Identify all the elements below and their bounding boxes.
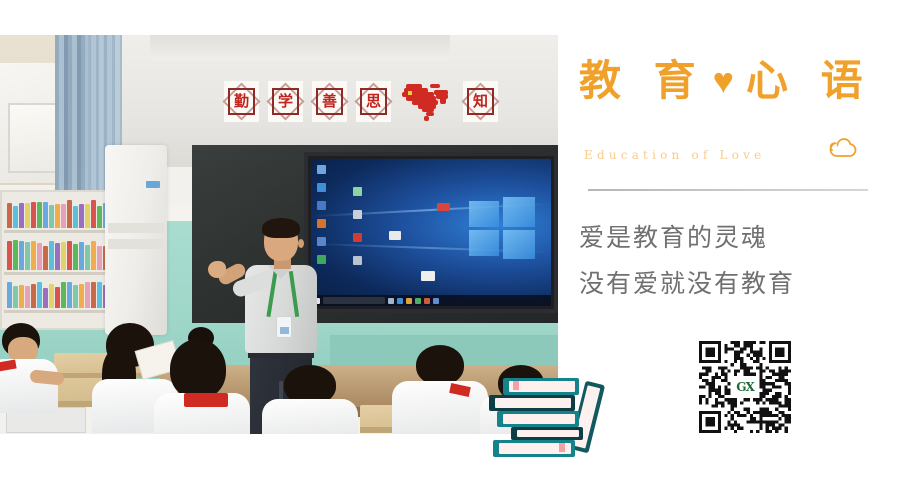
book-1	[503, 378, 579, 395]
right-panel: 教 育 ♥ 心 语 Education of Love 爱是教育的灵魂 没有爱就…	[558, 0, 900, 500]
divider	[588, 189, 868, 191]
poster-canvas: 勤 学 善 思 知	[0, 0, 900, 500]
desktop-icon-column-2	[353, 187, 362, 265]
qr-center-logo: GX	[731, 377, 759, 397]
student-right-boy	[392, 345, 488, 434]
plaque-2: 学	[268, 81, 303, 122]
quote-line-1: 爱是教育的灵魂	[579, 215, 795, 261]
cloud-icon	[826, 136, 860, 167]
air-conditioner	[105, 145, 167, 335]
qr-code[interactable]: GX	[699, 341, 791, 433]
plaque-5: 知	[463, 81, 498, 122]
classroom-photo: 勤 学 善 思 知	[0, 35, 558, 434]
title-part-2: 心 语	[746, 60, 872, 102]
plaque-char: 知	[473, 94, 488, 109]
book-4	[511, 427, 583, 440]
quote-line-2: 没有爱就没有教育	[579, 261, 795, 307]
plaque-char: 勤	[234, 94, 249, 109]
windows-logo	[469, 197, 535, 259]
china-map-decal	[400, 82, 454, 122]
plaque-char: 善	[322, 94, 337, 109]
plaque-char: 学	[278, 94, 293, 109]
book-2	[489, 395, 575, 411]
plaque-char: 思	[366, 94, 381, 109]
book-3	[497, 411, 579, 427]
poster-title: 教 育 ♥ 心 语	[579, 60, 872, 102]
heart-icon: ♥	[713, 63, 734, 99]
student-girl-center	[158, 335, 248, 434]
student-back-center	[262, 365, 358, 434]
poster-subtitle: Education of Love	[584, 148, 765, 162]
poster-quote: 爱是教育的灵魂 没有爱就没有教育	[579, 215, 795, 306]
wall-calligraphy-plaques: 勤 学 善 思 知	[224, 81, 498, 122]
ceiling-shadow	[150, 35, 450, 61]
title-part-1: 教 育	[579, 60, 705, 102]
student-left-boy	[0, 323, 64, 413]
book-stack-illustration	[489, 378, 595, 458]
plaque-1: 勤	[224, 81, 259, 122]
plaque-3: 善	[312, 81, 347, 122]
book-5	[493, 440, 575, 457]
plaque-4: 思	[356, 81, 391, 122]
